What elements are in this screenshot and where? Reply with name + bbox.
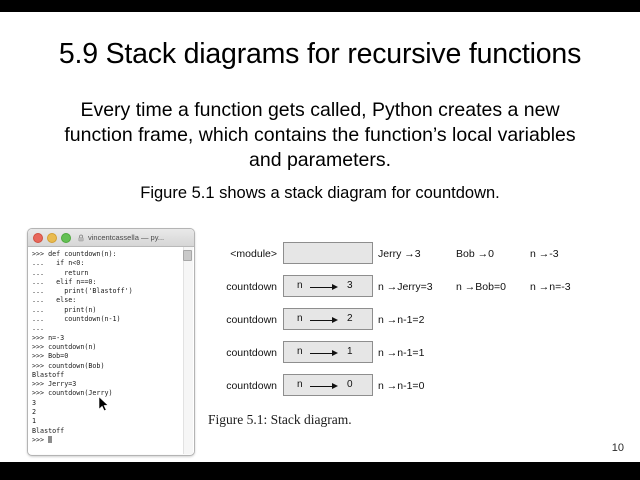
terminal-line: >>> countdown(Jerry) [32, 389, 190, 398]
terminal-line: ... if n<0: [32, 259, 190, 268]
terminal-line: >>> countdown(n) [32, 343, 190, 352]
annotation-text: n →n-1=1 [378, 347, 424, 359]
annotation-text: n →Jerry=3 [378, 281, 433, 293]
annotation-row: n →Jerry=3n →Bob=0n →n=-3 [378, 273, 640, 306]
terminal-line-list: >>> def countdown(n):... if n<0:... retu… [32, 250, 190, 436]
stack-frame-row: countdownn3 [205, 273, 380, 306]
slide-number: 10 [612, 442, 624, 454]
annotation-text: n →n-1=0 [378, 380, 424, 392]
annotation-row: n →n-1=1 [378, 339, 640, 372]
mouse-cursor-icon [98, 396, 109, 412]
terminal-line: ... print(n) [32, 306, 190, 315]
frame-variable-name: n [297, 346, 303, 357]
stack-frame-box: n2 [283, 308, 373, 330]
annotation-column-group: Jerry →3Bob →0n →-3n →Jerry=3n →Bob=0n →… [378, 240, 640, 405]
terminal-line: ... [32, 324, 190, 333]
terminal-cursor [48, 436, 52, 443]
terminal-window[interactable]: vincentcassella — py... >>> def countdow… [27, 228, 195, 456]
terminal-line: ... return [32, 269, 190, 278]
terminal-line: Blastoff [32, 427, 190, 436]
terminal-line: 3 [32, 399, 190, 408]
slide-body-text: Every time a function gets called, Pytho… [46, 98, 594, 173]
terminal-line: 2 [32, 408, 190, 417]
terminal-line: >>> n=-3 [32, 334, 190, 343]
terminal-line: >>> countdown(Bob) [32, 362, 190, 371]
frame-arrow-icon [310, 287, 340, 289]
annotation-text: n →Bob=0 [456, 281, 506, 293]
lock-icon [77, 234, 85, 242]
scrollbar[interactable] [183, 247, 193, 454]
frame-variable-value: 3 [347, 280, 353, 291]
stack-frame-row: <module> [205, 240, 380, 273]
stack-frame-label: countdown [205, 347, 277, 359]
annotation-text: n →-3 [530, 248, 559, 260]
terminal-line: >>> Jerry=3 [32, 380, 190, 389]
stack-frame-box: n1 [283, 341, 373, 363]
stack-frame-label: countdown [205, 281, 277, 293]
stack-frame-label: countdown [205, 314, 277, 326]
terminal-line: ... print('Blastoff') [32, 287, 190, 296]
stack-frame-row: countdownn0 [205, 372, 380, 405]
letterbox-top-bar [0, 0, 640, 12]
annotation-text: Bob →0 [456, 248, 494, 260]
terminal-line: ... else: [32, 296, 190, 305]
figure-caption: Figure 5.1: Stack diagram. [208, 412, 352, 428]
stack-frame-box [283, 242, 373, 264]
stack-diagram: <module>countdownn3countdownn2countdownn… [205, 240, 380, 405]
terminal-line: >>> def countdown(n): [32, 250, 190, 259]
stack-frame-row: countdownn1 [205, 339, 380, 372]
terminal-line: >>> Bob=0 [32, 352, 190, 361]
frame-variable-value: 0 [347, 379, 353, 390]
frame-arrow-icon [310, 320, 340, 322]
stack-frame-box: n0 [283, 374, 373, 396]
terminal-line: 1 [32, 417, 190, 426]
frame-variable-value: 1 [347, 346, 353, 357]
scrollbar-thumb[interactable] [183, 250, 192, 261]
stack-frame-label: countdown [205, 380, 277, 392]
terminal-line: Blastoff [32, 371, 190, 380]
frame-variable-name: n [297, 280, 303, 291]
annotation-text: n →n-1=2 [378, 314, 424, 326]
frame-variable-value: 2 [347, 313, 353, 324]
terminal-title-text: vincentcassella — py... [88, 233, 164, 242]
stack-frame-row: countdownn2 [205, 306, 380, 339]
stack-frame-box: n3 [283, 275, 373, 297]
terminal-prompt-line: >>> [32, 436, 190, 445]
annotation-row: n →n-1=0 [378, 372, 640, 405]
stack-frame-label: <module> [205, 248, 277, 260]
letterbox-bottom-bar [0, 462, 640, 480]
annotation-text: n →n=-3 [530, 281, 571, 293]
page-title: 5.9 Stack diagrams for recursive functio… [0, 38, 640, 71]
terminal-output-area[interactable]: >>> def countdown(n):... if n<0:... retu… [28, 247, 194, 454]
frame-variable-name: n [297, 379, 303, 390]
figure-reference-note: Figure 5.1 shows a stack diagram for cou… [46, 184, 594, 203]
terminal-line: ... elif n==0: [32, 278, 190, 287]
terminal-prompt: >>> [32, 436, 48, 444]
terminal-titlebar[interactable]: vincentcassella — py... [28, 229, 194, 247]
frame-arrow-icon [310, 386, 340, 388]
frame-variable-name: n [297, 313, 303, 324]
minimize-icon[interactable] [47, 233, 57, 243]
maximize-icon[interactable] [61, 233, 71, 243]
terminal-line: ... countdown(n-1) [32, 315, 190, 324]
annotation-row: Jerry →3Bob →0n →-3 [378, 240, 640, 273]
annotation-row: n →n-1=2 [378, 306, 640, 339]
slide-root: 5.9 Stack diagrams for recursive functio… [0, 0, 640, 480]
slide-canvas: 5.9 Stack diagrams for recursive functio… [0, 12, 640, 462]
annotation-text: Jerry →3 [378, 248, 421, 260]
frame-arrow-icon [310, 353, 340, 355]
close-icon[interactable] [33, 233, 43, 243]
